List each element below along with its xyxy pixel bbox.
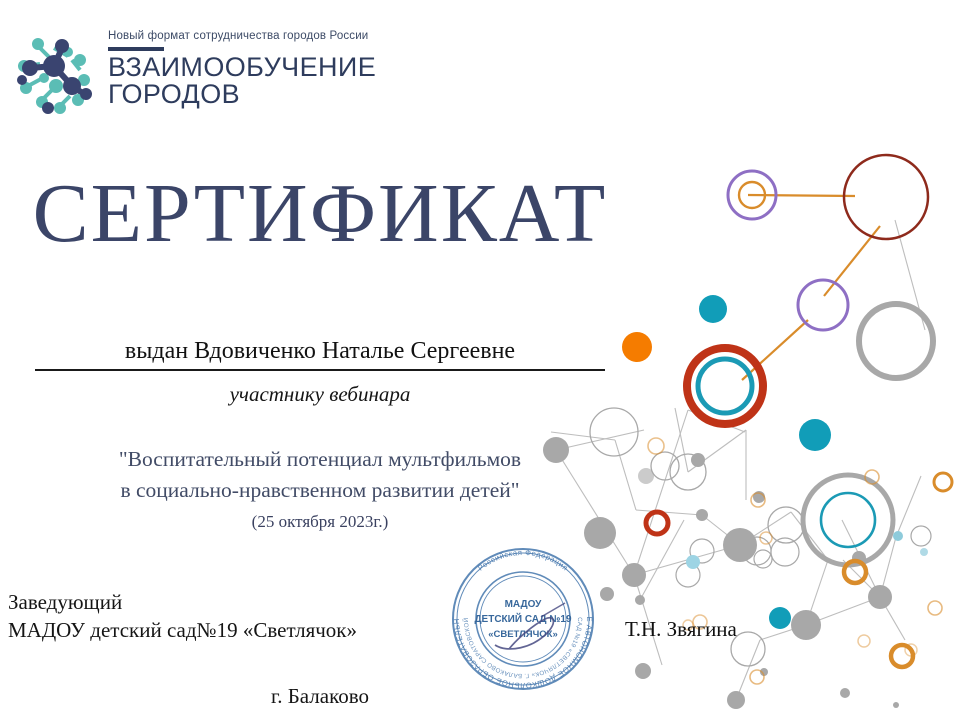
network-dot-pale-teal <box>920 548 928 556</box>
stamp-center-line-2: ДЕТСКИЙ САД №19 <box>474 612 572 625</box>
recipient-role: участнику вебинара <box>20 382 620 407</box>
recipient-name-line: выдан Вдовиченко Наталье Сергеевне <box>20 338 620 366</box>
certificate-page: Новый формат сотрудничества городов Росс… <box>0 0 960 720</box>
stamp-center-line-1: МАДОУ <box>505 599 543 610</box>
official-stamp: Российская Федерация МУНИЦИПАЛЬНОЕ АВТОН… <box>437 533 609 705</box>
logo-name-line-2: ГОРОДОВ <box>108 81 376 109</box>
logo-text-group: Новый формат сотрудничества городов Росс… <box>108 24 376 109</box>
brand-logo: Новый формат сотрудничества городов Росс… <box>8 24 358 132</box>
network-node-teal-pale <box>686 555 700 569</box>
stamp-outer-text-top: Российская Федерация <box>476 548 570 573</box>
network-ring-amber-inner <box>739 182 765 208</box>
logo-name-line-1: ВЗАИМООБУЧЕНИЕ <box>108 54 376 82</box>
certificate-title: СЕРТИФИКАТ <box>0 172 640 256</box>
webinar-title-line-2: в социально-нравственном развитии детей" <box>20 475 620 506</box>
network-node-orange <box>622 332 652 362</box>
recipient-block: выдан Вдовиченко Наталье Сергеевне <box>20 338 620 371</box>
network-ring-teal <box>821 493 875 547</box>
network-ring-dark-red <box>844 155 928 239</box>
network-focus-ring <box>687 348 763 424</box>
network-rings-gray <box>590 304 933 666</box>
webinar-title-line-1: "Воспитательный потенциал мультфильмов <box>20 444 620 475</box>
network-ring-red-small <box>646 512 668 534</box>
network-edges-orange <box>742 195 880 380</box>
webinar-title-block: "Воспитательный потенциал мультфильмов в… <box>20 444 620 505</box>
logo-tagline: Новый формат сотрудничества городов Росс… <box>108 30 376 43</box>
network-node-teal-small <box>893 531 903 541</box>
signer-organization: МАДОУ детский сад№19 «Светлячок» <box>8 616 357 644</box>
network-rings-purple <box>728 171 848 330</box>
webinar-date: (25 октября 2023г.) <box>20 512 620 532</box>
signer-role: Заведующий <box>8 588 357 616</box>
network-rings-amber <box>648 438 952 684</box>
signer-block: Заведующий МАДОУ детский сад№19 «Светляч… <box>8 588 357 645</box>
signer-name: Т.Н. Звягина <box>625 617 737 642</box>
network-molecule-logo-icon <box>8 24 100 124</box>
recipient-underline <box>35 369 605 371</box>
network-nodes-teal <box>699 295 831 629</box>
logo-rule-divider <box>108 47 164 51</box>
